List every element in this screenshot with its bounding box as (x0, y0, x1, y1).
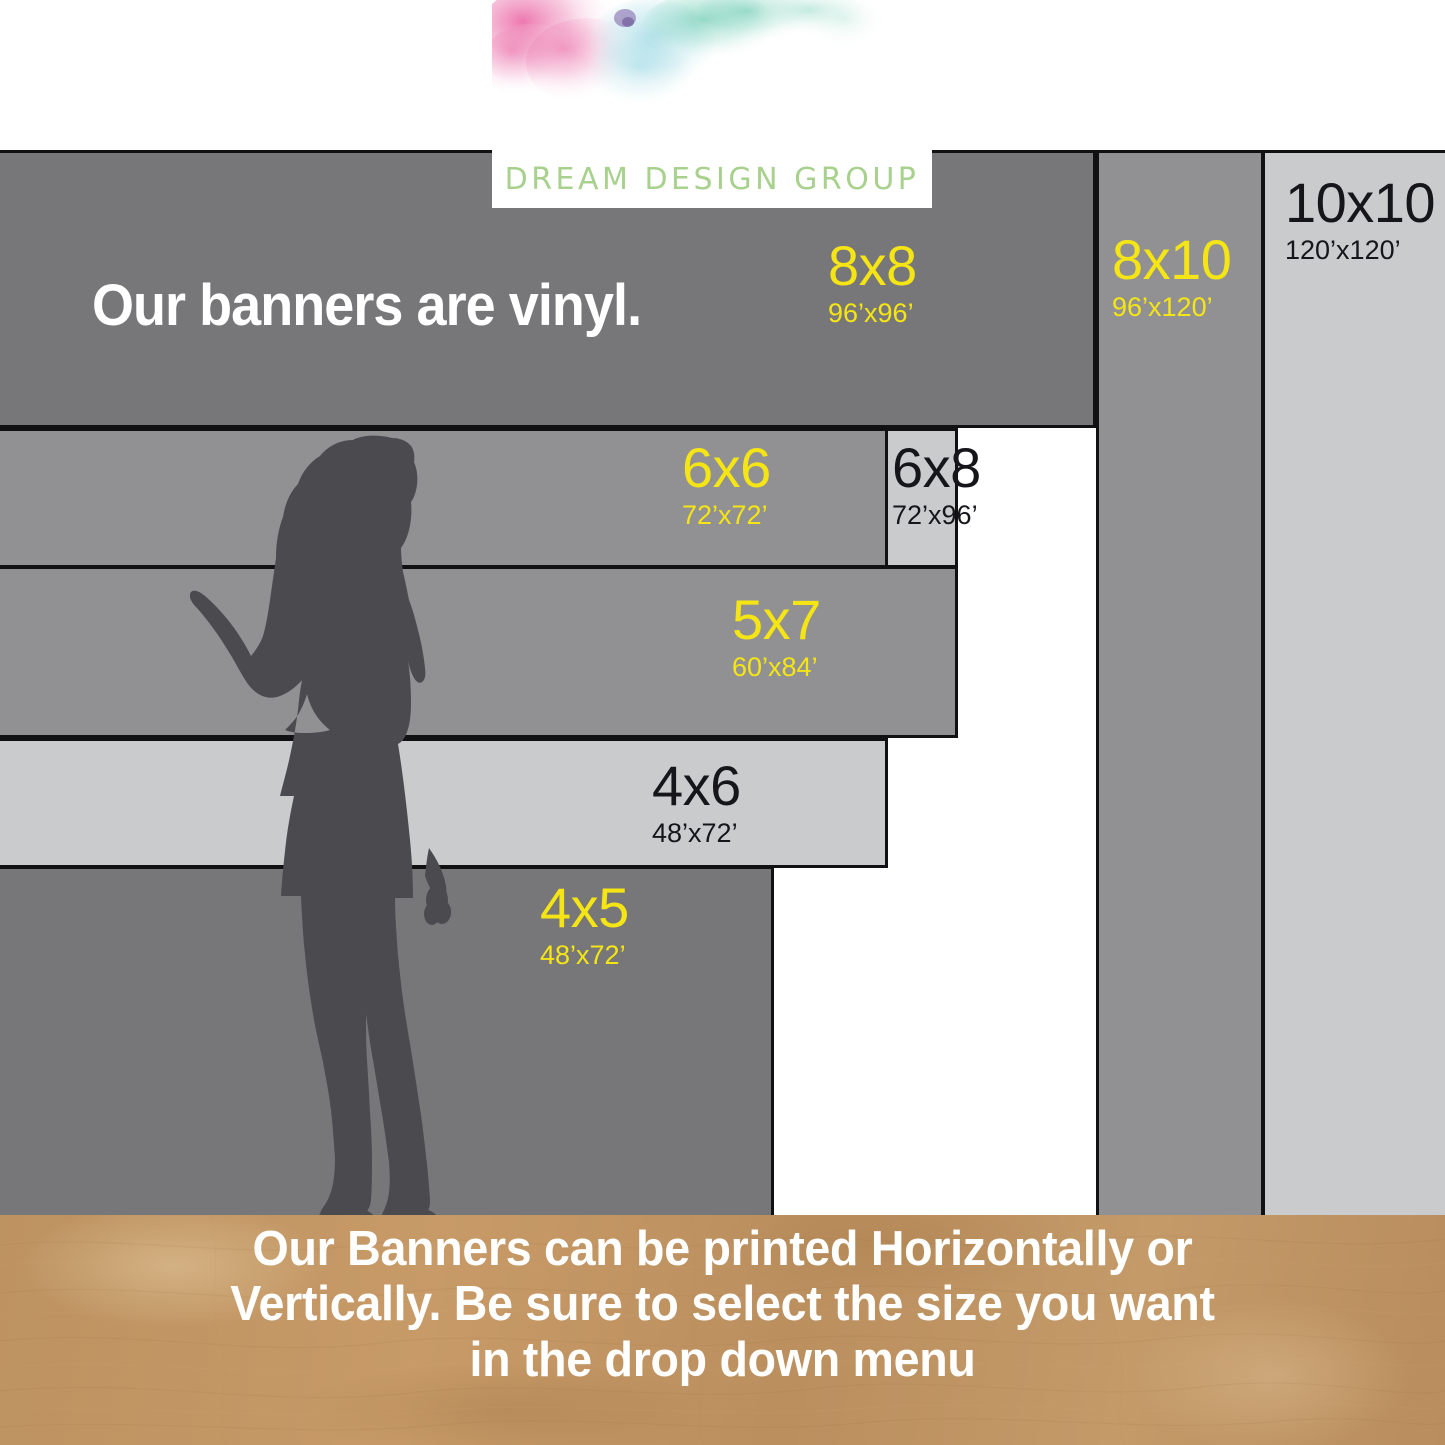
size-label-8x8: 8x8 96’x96’ (828, 238, 917, 327)
size-label-4x5-size: 4x5 (540, 880, 629, 936)
size-label-8x10-dimensions: 96’x120’ (1112, 294, 1231, 321)
woman-silhouette-icon (190, 430, 510, 1220)
size-label-6x6-dimensions: 72’x72’ (682, 502, 771, 529)
caption-line-3: in the drop down menu (36, 1333, 1409, 1388)
size-label-6x8: 6x8 72’x96’ (892, 440, 981, 529)
size-label-4x6: 4x6 48’x72’ (652, 758, 741, 847)
size-label-10x10-size: 10x10 (1285, 175, 1435, 231)
size-label-4x6-dimensions: 48’x72’ (652, 820, 741, 847)
size-label-10x10-dimensions: 120’x120’ (1285, 237, 1435, 264)
size-label-8x8-size: 8x8 (828, 238, 917, 294)
watercolor-splash-icon (492, 0, 932, 150)
caption-text: Our Banners can be printed Horizontally … (36, 1222, 1409, 1388)
caption-line-2: Vertically. Be sure to select the size y… (36, 1277, 1409, 1332)
banner-size-chart: Our banners are vinyl. DREAM DESIGN GROU… (0, 0, 1445, 1445)
size-label-4x5-dimensions: 48’x72’ (540, 942, 629, 969)
size-label-6x6: 6x6 72’x72’ (682, 440, 771, 529)
size-label-4x5: 4x5 48’x72’ (540, 880, 629, 969)
size-label-5x7: 5x7 60’x84’ (732, 592, 821, 681)
brand-name: DREAM DESIGN GROUP (505, 162, 920, 197)
size-label-6x8-dimensions: 72’x96’ (892, 502, 981, 529)
size-label-5x7-dimensions: 60’x84’ (732, 654, 821, 681)
size-label-8x10-size: 8x10 (1112, 232, 1231, 288)
size-label-8x8-dimensions: 96’x96’ (828, 300, 917, 327)
page-title: Our banners are vinyl. (92, 272, 641, 339)
brand-logo-plate: DREAM DESIGN GROUP (492, 150, 932, 208)
size-label-4x6-size: 4x6 (652, 758, 741, 814)
banner-rect-10x10[interactable] (1262, 150, 1445, 1218)
size-label-6x8-size: 6x8 (892, 440, 981, 496)
size-label-5x7-size: 5x7 (732, 592, 821, 648)
caption-line-1: Our Banners can be printed Horizontally … (36, 1222, 1409, 1277)
size-label-10x10: 10x10 120’x120’ (1285, 175, 1435, 264)
size-label-8x10: 8x10 96’x120’ (1112, 232, 1231, 321)
size-label-6x6-size: 6x6 (682, 440, 771, 496)
